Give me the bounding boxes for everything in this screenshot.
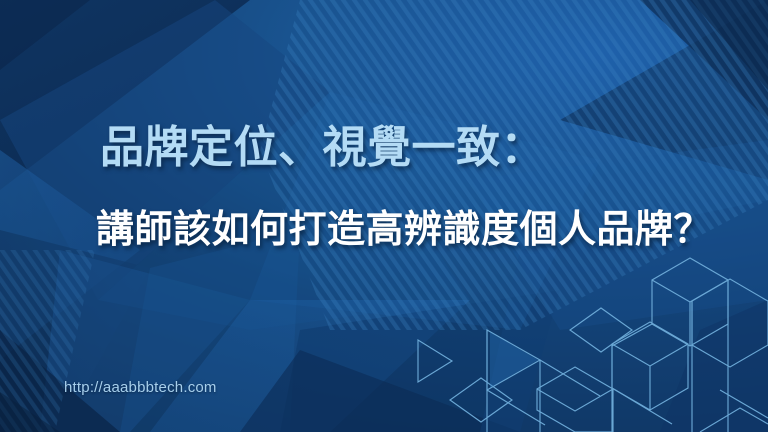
title-line-2: 講師該如何打造高辨識度個人品牌？ bbox=[96, 207, 712, 253]
website-url[interactable]: http://aaabbbtech.com bbox=[64, 379, 217, 396]
presentation-slide: 品牌定位、視覺一致： 講師該如何打造高辨識度個人品牌？ http://aaabb… bbox=[0, 0, 768, 432]
title-line-1: 品牌定位、視覺一致： bbox=[100, 122, 545, 174]
